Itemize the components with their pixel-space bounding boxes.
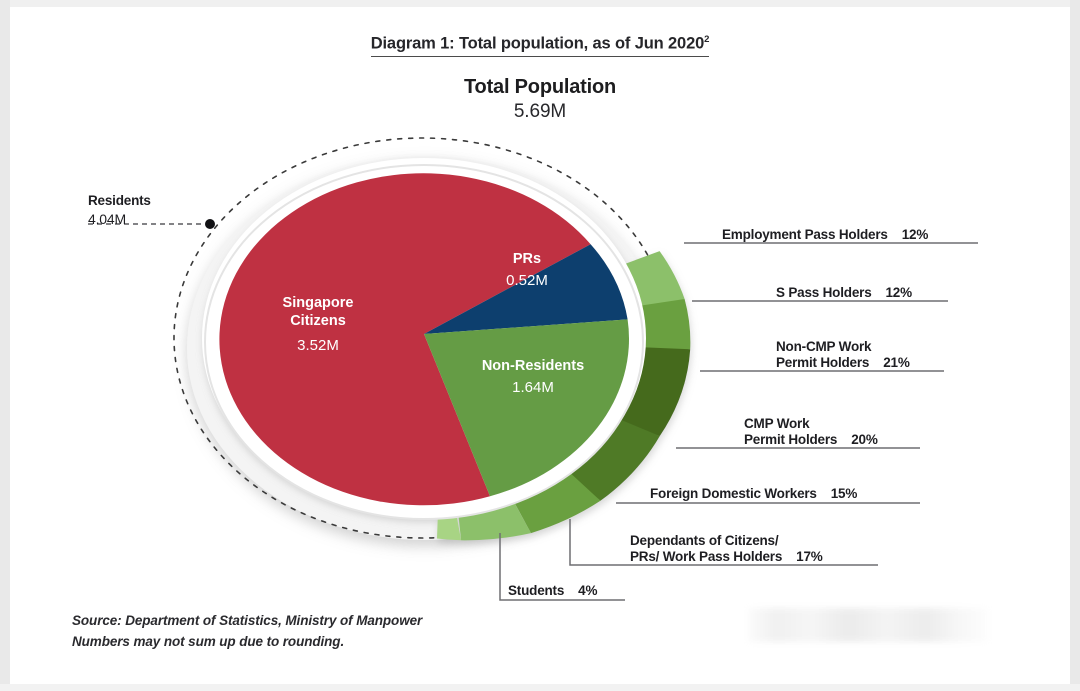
callout-foreign-domestic-workers: Foreign Domestic Workers15% xyxy=(650,486,857,502)
callout-non-cmp-label-line1: Non-CMP Work xyxy=(776,339,910,355)
callout-non-cmp-label-line2: Permit Holders xyxy=(776,355,869,370)
residents-annotation: Residents 4.04M xyxy=(88,191,151,229)
callout-cmp-work-permit-holders: CMP Work Permit Holders20% xyxy=(744,416,878,448)
source-note: Source: Department of Statistics, Minist… xyxy=(72,610,422,652)
label-prs-value: 0.52M xyxy=(506,272,548,289)
callout-dependants-label-line2: PRs/ Work Pass Holders xyxy=(630,549,782,564)
callout-cmp-pct: 20% xyxy=(851,432,877,448)
callout-non-cmp-work-permit-holders: Non-CMP Work Permit Holders21% xyxy=(776,339,910,371)
screenshot-page: Diagram 1: Total population, as of Jun 2… xyxy=(0,0,1080,691)
residents-annotation-name: Residents xyxy=(88,191,151,210)
callout-fdw-label: Foreign Domestic Workers xyxy=(650,486,817,501)
callout-students: Students4% xyxy=(508,583,597,599)
callout-s-pass-holders: S Pass Holders12% xyxy=(776,285,912,301)
callout-s-pass-pct: 12% xyxy=(886,285,912,301)
source-line-2: Numbers may not sum up due to rounding. xyxy=(72,631,422,652)
callout-fdw-pct: 15% xyxy=(831,486,857,502)
label-non-residents: Non-Residents xyxy=(482,358,584,374)
callout-dependants: Dependants of Citizens/ PRs/ Work Pass H… xyxy=(630,533,823,565)
callout-dependants-label-line1: Dependants of Citizens/ xyxy=(630,533,823,549)
callout-cmp-label-line1: CMP Work xyxy=(744,416,878,432)
callout-dependants-pct: 17% xyxy=(796,549,822,565)
callout-employment-pass-pct: 12% xyxy=(902,227,928,243)
label-singapore-citizens-line1: Singapore xyxy=(283,295,354,311)
label-singapore-citizens-line2: Citizens xyxy=(290,313,346,329)
callout-non-cmp-pct: 21% xyxy=(883,355,909,371)
residents-annotation-value: 4.04M xyxy=(88,210,151,229)
blurred-watermark xyxy=(748,608,988,642)
pie-slices xyxy=(219,173,629,505)
callout-s-pass-label: S Pass Holders xyxy=(776,285,872,300)
callout-employment-pass-label: Employment Pass Holders xyxy=(722,227,888,242)
label-singapore-citizens-value: 3.52M xyxy=(297,337,339,354)
label-prs: PRs xyxy=(513,251,541,267)
callout-students-pct: 4% xyxy=(578,583,597,599)
callout-employment-pass-holders: Employment Pass Holders12% xyxy=(722,227,928,243)
callout-cmp-label-line2: Permit Holders xyxy=(744,432,837,447)
label-non-residents-value: 1.64M xyxy=(512,379,554,396)
source-line-1: Source: Department of Statistics, Minist… xyxy=(72,610,422,631)
callout-students-label: Students xyxy=(508,583,564,598)
